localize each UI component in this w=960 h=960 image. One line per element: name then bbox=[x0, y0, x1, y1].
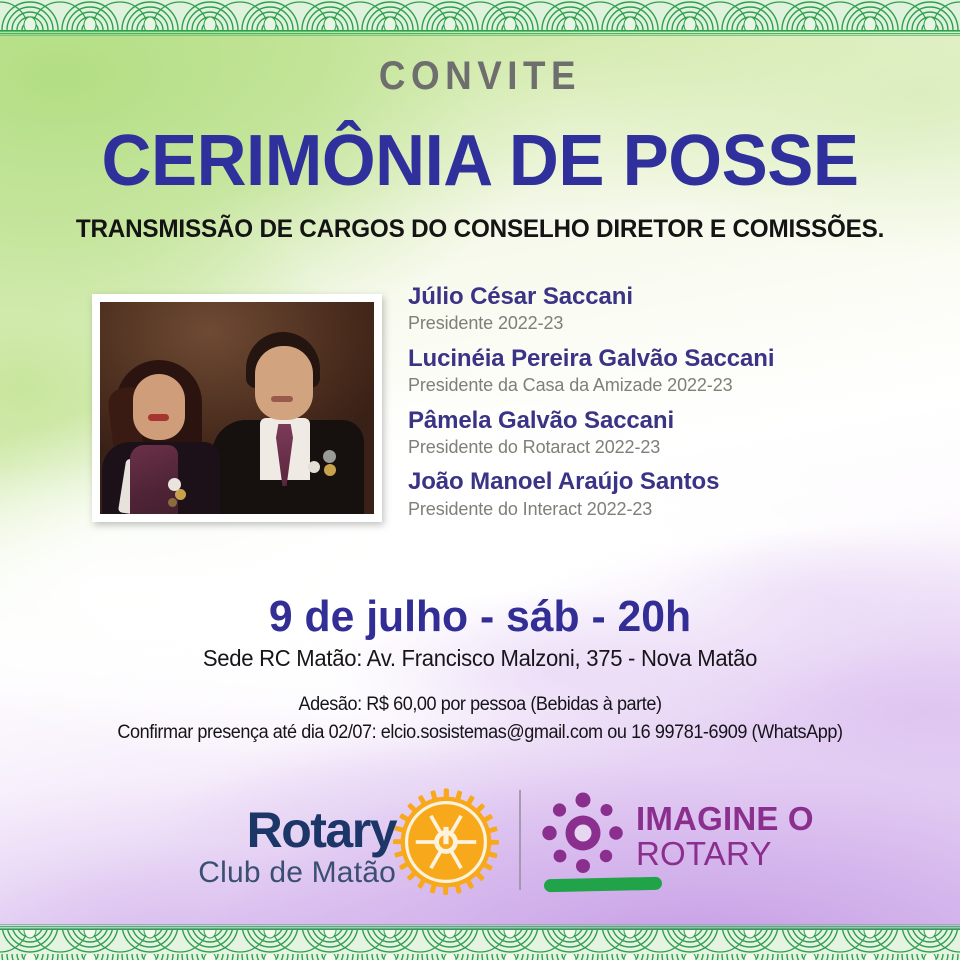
portrait-man-lapel-pins bbox=[305, 450, 345, 480]
imagine-rotary-line1: IMAGINE O bbox=[636, 802, 814, 837]
officer-item: Pâmela Galvão Saccani Presidente do Rota… bbox=[408, 407, 908, 459]
rotary-club-label: Club de Matão bbox=[196, 856, 396, 889]
officer-role: Presidente do Rotaract 2022-23 bbox=[408, 436, 908, 459]
officer-item: Lucinéia Pereira Galvão Saccani Presiden… bbox=[408, 345, 908, 397]
portrait-man-smile bbox=[271, 396, 293, 402]
officer-name: João Manoel Araújo Santos bbox=[408, 468, 908, 496]
eyebrow-convite: CONVITE bbox=[38, 54, 921, 99]
officer-role: Presidente 2022-23 bbox=[408, 312, 908, 335]
page-subtitle: TRANSMISSÃO DE CARGOS DO CONSELHO DIRETO… bbox=[14, 215, 945, 244]
event-date: 9 de julho - sáb - 20h bbox=[14, 592, 945, 642]
officer-role: Presidente da Casa da Amizade 2022-23 bbox=[408, 374, 908, 397]
green-brush-stroke bbox=[544, 877, 662, 892]
portrait-image bbox=[100, 302, 374, 514]
rotary-wordmark-label: Rotary bbox=[196, 806, 396, 854]
imagine-rotary-logo: IMAGINE O ROTARY bbox=[540, 786, 860, 898]
officer-name: Lucinéia Pereira Galvão Saccani bbox=[408, 345, 908, 373]
invite-flyer: CONVITE CERIMÔNIA DE POSSE TRANSMISSÃO D… bbox=[0, 0, 960, 960]
imagine-rotary-sun-icon bbox=[540, 790, 626, 876]
officer-item: João Manoel Araújo Santos Presidente do … bbox=[408, 468, 908, 520]
couple-portrait-photo bbox=[92, 294, 382, 522]
portrait-man-face bbox=[255, 346, 313, 420]
officer-name: Pâmela Galvão Saccani bbox=[408, 407, 908, 435]
imagine-rotary-line2: ROTARY bbox=[636, 837, 814, 872]
rotary-gear-wheel-icon bbox=[392, 788, 500, 896]
portrait-woman-pins bbox=[168, 478, 181, 491]
officer-name: Júlio César Saccani bbox=[408, 283, 908, 311]
officers-list: Júlio César Saccani Presidente 2022-23 L… bbox=[408, 283, 908, 530]
officer-item: Júlio César Saccani Presidente 2022-23 bbox=[408, 283, 908, 335]
event-rsvp-note: Confirmar presença até dia 02/07: elcio.… bbox=[24, 722, 936, 744]
footer-logo-divider bbox=[519, 790, 521, 890]
portrait-woman-smile bbox=[148, 414, 169, 421]
footer-logos: Rotary Club de Matão bbox=[0, 778, 960, 906]
event-fee-note: Adesão: R$ 60,00 por pessoa (Bebidas à p… bbox=[24, 694, 936, 716]
portrait-woman-face bbox=[133, 374, 185, 440]
event-venue: Sede RC Matão: Av. Francisco Malzoni, 37… bbox=[19, 645, 941, 672]
officer-role: Presidente do Interact 2022-23 bbox=[408, 498, 908, 521]
rotary-club-logo: Rotary Club de Matão bbox=[196, 786, 506, 898]
imagine-rotary-wordmark: IMAGINE O ROTARY bbox=[636, 802, 814, 872]
rotary-wordmark: Rotary Club de Matão bbox=[196, 806, 396, 889]
page-title: CERIMÔNIA DE POSSE bbox=[19, 125, 941, 197]
